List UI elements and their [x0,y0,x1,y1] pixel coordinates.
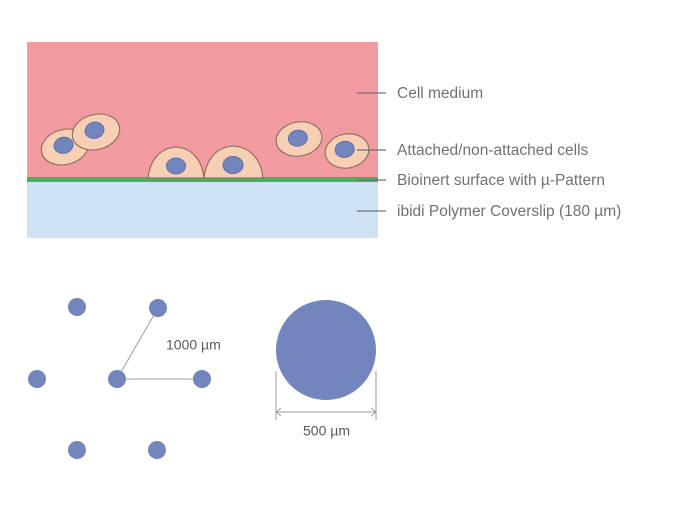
callout-label-coverslip: ibidi Polymer Coverslip (180 µm) [397,203,621,220]
pattern-dot [149,299,167,317]
callout-label-cell-medium: Cell medium [397,85,483,102]
callout-label-bioinert-surface: Bioinert surface with µ-Pattern [397,172,605,189]
single-spot-group: 500 µm [276,300,376,439]
spacing-dimension-label: 1000 µm [166,337,221,353]
cross-section-group [27,42,378,238]
pattern-dot [68,441,86,459]
callout-labels-group: Cell medium Attached/non-attached cells … [357,85,621,220]
callout-label-cells: Attached/non-attached cells [397,142,589,159]
attached-cell-1-nucleus [167,158,186,174]
spacing-line-diagonal [117,308,158,379]
pattern-dot [108,370,126,388]
polymer-coverslip-layer [27,182,378,238]
attached-cell-2-nucleus [223,157,243,174]
pattern-dot [28,370,46,388]
single-spot-circle [276,300,376,400]
diameter-dimension-label: 500 µm [303,423,350,439]
pattern-grid-group: 1000 µm [28,298,221,459]
pattern-dot [68,298,86,316]
cell-culture-micropattern-diagram: Cell medium Attached/non-attached cells … [0,0,700,524]
pattern-dot [193,370,211,388]
pattern-dot [148,441,166,459]
